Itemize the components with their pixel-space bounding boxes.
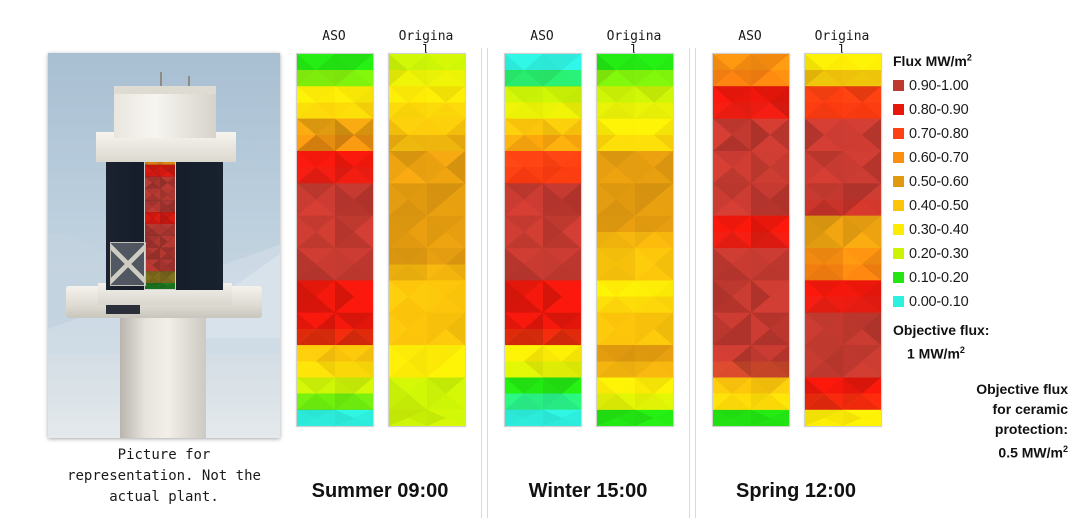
legend-note-line: protection: bbox=[893, 419, 1068, 439]
flux-facet-overlay bbox=[713, 54, 789, 426]
legend-swatch-icon bbox=[893, 248, 904, 259]
legend-items: 0.90-1.000.80-0.900.70-0.800.60-0.700.50… bbox=[893, 74, 1068, 314]
legend-notes: Objective flux:1 MW/m2Objective fluxfor … bbox=[893, 320, 1068, 463]
flux-facet-overlay bbox=[597, 54, 673, 426]
flux-map-spring-aso bbox=[712, 53, 790, 427]
tower-cap bbox=[114, 90, 216, 138]
legend-title-text: Flux MW/m2 bbox=[893, 53, 972, 69]
column-header-line: Origina bbox=[389, 30, 463, 44]
legend-swatch-icon bbox=[893, 272, 904, 283]
photo-caption: Picture forrepresentation. Not theactual… bbox=[18, 445, 310, 508]
legend-swatch-icon bbox=[893, 128, 904, 139]
legend-swatch-icon bbox=[893, 80, 904, 91]
platform-detail bbox=[106, 305, 140, 314]
divider-summer-winter-a bbox=[481, 48, 482, 518]
flux-facet-overlay bbox=[389, 54, 465, 426]
caption-line: representation. Not the bbox=[18, 466, 310, 487]
legend-item-2: 0.70-0.80 bbox=[893, 122, 1068, 146]
legend-item-0: 0.90-1.00 bbox=[893, 74, 1068, 98]
flux-map-spring-original bbox=[804, 53, 882, 427]
legend-item-1: 0.80-0.90 bbox=[893, 98, 1068, 122]
legend-label: 0.30-0.40 bbox=[909, 222, 968, 238]
legend-item-7: 0.20-0.30 bbox=[893, 242, 1068, 266]
column-header-spring-aso: ASO bbox=[713, 30, 787, 44]
service-truss bbox=[110, 242, 146, 286]
legend-note-line: Objective flux bbox=[893, 379, 1068, 399]
legend-item-8: 0.10-0.20 bbox=[893, 266, 1068, 290]
legend-swatch-icon bbox=[893, 104, 904, 115]
legend-label: 0.80-0.90 bbox=[909, 102, 968, 118]
column-header-winter-aso: ASO bbox=[505, 30, 579, 44]
flux-map-summer-aso bbox=[296, 53, 374, 427]
column-header-line: ASO bbox=[713, 30, 787, 44]
legend-label: 0.60-0.70 bbox=[909, 150, 968, 166]
legend-note-line: for ceramic bbox=[893, 399, 1068, 419]
legend-swatch-icon bbox=[893, 176, 904, 187]
legend-item-5: 0.40-0.50 bbox=[893, 194, 1068, 218]
flux-legend: Flux MW/m2 0.90-1.000.80-0.900.70-0.800.… bbox=[893, 52, 1068, 463]
legend-title: Flux MW/m2 bbox=[893, 52, 1068, 69]
column-header-line: ASO bbox=[505, 30, 579, 44]
legend-item-6: 0.30-0.40 bbox=[893, 218, 1068, 242]
legend-swatch-icon bbox=[893, 296, 904, 307]
legend-label: 0.70-0.80 bbox=[909, 126, 968, 142]
figure-canvas: Picture forrepresentation. Not theactual… bbox=[0, 0, 1070, 530]
legend-note-1: Objective fluxfor ceramicprotection:0.5 … bbox=[893, 379, 1068, 463]
legend-swatch-icon bbox=[893, 200, 904, 211]
legend-swatch-icon bbox=[893, 152, 904, 163]
column-header-line: Origina bbox=[597, 30, 671, 44]
legend-label: 0.00-0.10 bbox=[909, 294, 968, 310]
flux-facet-overlay bbox=[145, 153, 175, 289]
divider-winter-spring-a bbox=[689, 48, 690, 518]
flux-facet-overlay bbox=[505, 54, 581, 426]
legend-label: 0.50-0.60 bbox=[909, 174, 968, 190]
column-header-line: Origina bbox=[805, 30, 879, 44]
flux-facet-overlay bbox=[805, 54, 881, 426]
plant-photo-block: Picture forrepresentation. Not theactual… bbox=[48, 53, 280, 438]
divider-summer-winter-b bbox=[487, 48, 488, 518]
legend-item-3: 0.60-0.70 bbox=[893, 146, 1068, 170]
caption-line: actual plant. bbox=[18, 487, 310, 508]
flux-map-winter-original bbox=[596, 53, 674, 427]
legend-label: 0.20-0.30 bbox=[909, 246, 968, 262]
antenna-icon bbox=[160, 72, 162, 86]
flux-map-summer-original bbox=[388, 53, 466, 427]
receiver-flux-overlay bbox=[144, 152, 176, 290]
legend-swatch-icon bbox=[893, 224, 904, 235]
legend-label: 0.10-0.20 bbox=[909, 270, 968, 286]
legend-label: 0.40-0.50 bbox=[909, 198, 968, 214]
legend-note-line: 1 MW/m2 bbox=[893, 340, 1068, 364]
column-header-line: ASO bbox=[297, 30, 371, 44]
legend-item-9: 0.00-0.10 bbox=[893, 290, 1068, 314]
legend-item-4: 0.50-0.60 bbox=[893, 170, 1068, 194]
season-label-spring: Spring 12:00 bbox=[736, 480, 856, 503]
season-label-summer: Summer 09:00 bbox=[312, 480, 449, 503]
legend-label: 0.90-1.00 bbox=[909, 78, 968, 94]
legend-note-line: Objective flux: bbox=[893, 320, 1068, 340]
solar-power-tower-photo bbox=[48, 53, 280, 438]
legend-note-line: 0.5 MW/m2 bbox=[893, 439, 1068, 463]
column-header-summer-aso: ASO bbox=[297, 30, 371, 44]
legend-note-0: Objective flux:1 MW/m2 bbox=[893, 320, 1068, 364]
tower-cap-top bbox=[114, 86, 216, 94]
flux-map-winter-aso bbox=[504, 53, 582, 427]
flux-facet-overlay bbox=[297, 54, 373, 426]
divider-winter-spring-b bbox=[695, 48, 696, 518]
antenna-secondary-icon bbox=[188, 76, 190, 86]
caption-line: Picture for bbox=[18, 445, 310, 466]
season-label-winter: Winter 15:00 bbox=[529, 480, 648, 503]
